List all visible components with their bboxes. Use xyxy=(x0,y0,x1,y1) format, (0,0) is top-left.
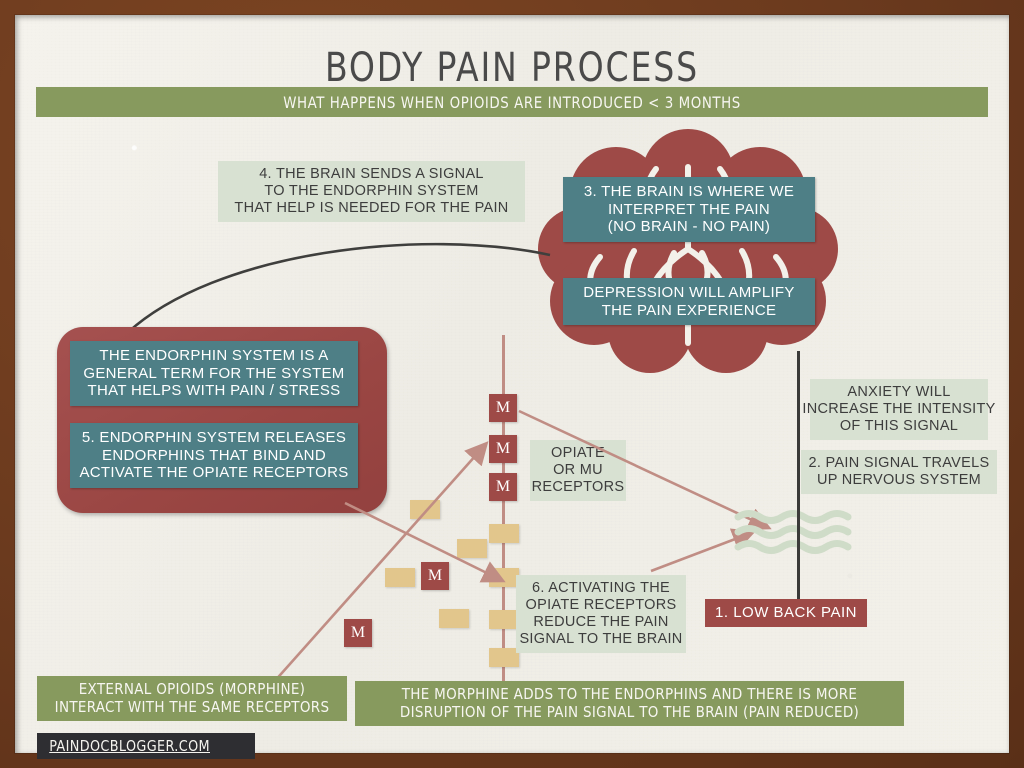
footer-url-text: PAINDOCBLOGGER.COM xyxy=(49,737,210,755)
external-opioids-line-1: EXTERNAL OPIOIDS (MORPHINE) xyxy=(79,681,306,699)
nervous-system-axis-line xyxy=(797,351,800,604)
footer-url-badge[interactable]: PAINDOCBLOGGER.COM xyxy=(37,733,255,759)
step2-line-2: UP NERVOUS SYSTEM xyxy=(817,472,981,489)
external-opioids-line-2: INTERACT WITH THE SAME RECEPTORS xyxy=(55,699,330,717)
step6-activating-receptors-box: 6. ACTIVATING THE OPIATE RECEPTORS REDUC… xyxy=(516,575,686,653)
step1-line-1: 1. LOW BACK PAIN xyxy=(715,604,857,622)
step6-line-2: OPIATE RECEPTORS xyxy=(526,597,677,614)
step2-line-1: 2. PAIN SIGNAL TRAVELS xyxy=(809,455,990,472)
anxiety-line-1: ANXIETY WILL xyxy=(847,384,950,401)
step2-pain-signal-travels-box: 2. PAIN SIGNAL TRAVELS UP NERVOUS SYSTEM xyxy=(801,450,997,494)
poster-canvas: BODY PAIN PROCESS WHAT HAPPENS WHEN OPIO… xyxy=(15,15,1009,753)
step6-line-1: 6. ACTIVATING THE xyxy=(532,580,670,597)
step6-line-3: REDUCE THE PAIN xyxy=(533,614,668,631)
morphine-summary-line-1: THE MORPHINE ADDS TO THE ENDORPHINS AND … xyxy=(402,686,857,704)
step1-low-back-pain-box: 1. LOW BACK PAIN xyxy=(705,599,867,627)
step6-line-4: SIGNAL TO THE BRAIN xyxy=(519,631,682,648)
morphine-summary-line-2: DISRUPTION OF THE PAIN SIGNAL TO THE BRA… xyxy=(400,704,859,722)
anxiety-intensity-box: ANXIETY WILL INCREASE THE INTENSITY OF T… xyxy=(810,379,988,440)
anxiety-line-2: INCREASE THE INTENSITY xyxy=(802,401,995,418)
arrow-receptor-to-signal xyxy=(519,411,767,527)
anxiety-line-3: OF THIS SIGNAL xyxy=(840,418,958,435)
morphine-summary-box: THE MORPHINE ADDS TO THE ENDORPHINS AND … xyxy=(355,681,904,726)
signal-waves-icon xyxy=(736,510,864,555)
poster-frame: BODY PAIN PROCESS WHAT HAPPENS WHEN OPIO… xyxy=(0,0,1024,768)
external-opioids-box: EXTERNAL OPIOIDS (MORPHINE) INTERACT WIT… xyxy=(37,676,347,721)
arrow-external-opioids-to-receptor xyxy=(273,445,485,683)
